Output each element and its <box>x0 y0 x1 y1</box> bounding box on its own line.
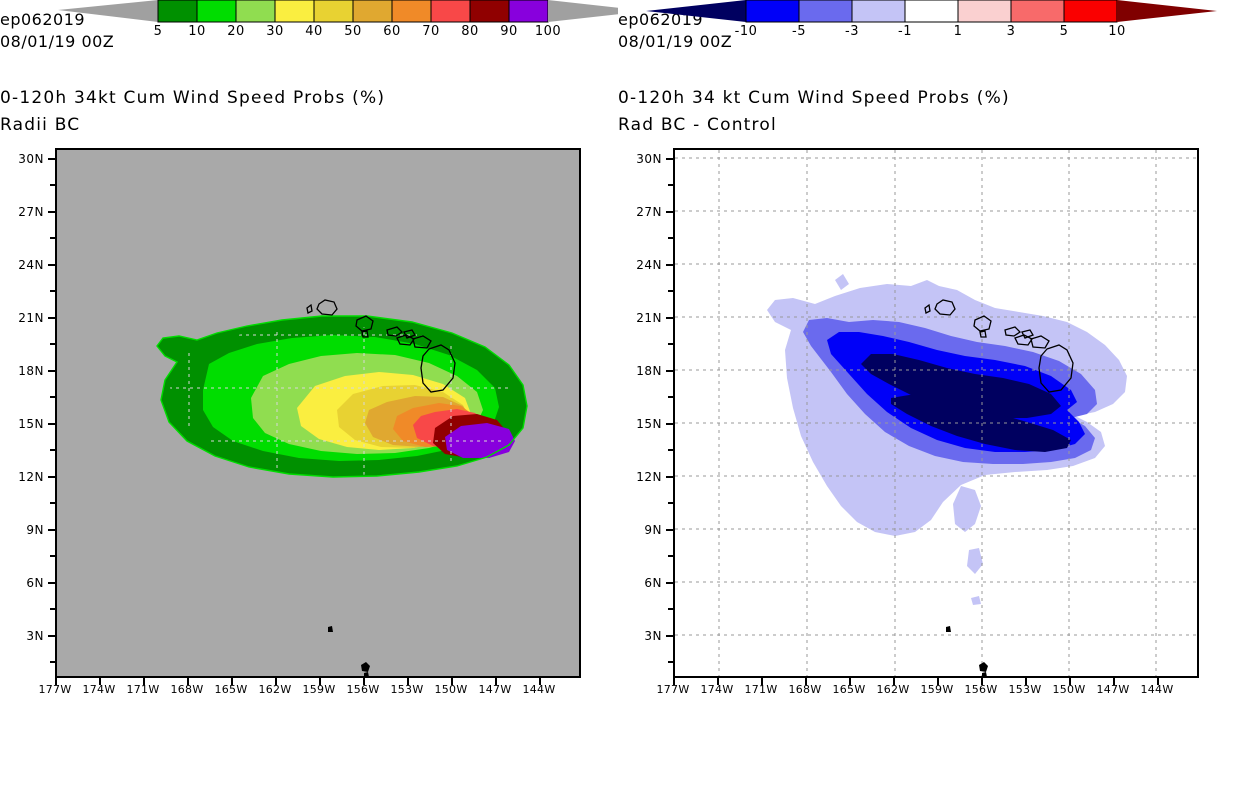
anomaly-spur-tiny <box>971 596 981 605</box>
y-axis-label-3N: 3N <box>4 629 44 643</box>
y-axis-label-21N-right: 21N <box>622 311 662 325</box>
y-axis-label-15N: 15N <box>4 417 44 431</box>
y-axis-label-24N-right: 24N <box>622 258 662 272</box>
contour-map-right <box>675 150 1197 676</box>
colorbar-anomaly-svg <box>618 0 1236 60</box>
y-axis-label-9N: 9N <box>4 523 44 537</box>
colorbar-tick-90: 90 <box>489 24 529 39</box>
y-axis-label-27N-right: 27N <box>622 205 662 219</box>
colorbar-tick-70: 70 <box>411 24 451 39</box>
y-axis-label-18N: 18N <box>4 364 44 378</box>
colorbar-tick-5: 5 <box>138 24 178 39</box>
anomaly-colorbar-under-arrow <box>646 0 746 22</box>
y-axis-label-3N-right: 3N <box>622 629 662 643</box>
anomaly-tick-5: 5 <box>1044 24 1084 39</box>
anomaly-tick-1: 1 <box>938 24 978 39</box>
colorbar-under-arrow <box>58 0 158 22</box>
map-plot-right <box>673 148 1199 678</box>
colorbar-anomaly <box>618 0 1236 60</box>
colorbar-tick-40: 40 <box>294 24 334 39</box>
anomaly-tick-neg5: -5 <box>779 24 819 39</box>
y-axis-label-18N-right: 18N <box>622 364 662 378</box>
panel-left-title: 0-120h 34kt Cum Wind Speed Probs (%) <box>0 88 618 108</box>
anomaly-tick-neg3: -3 <box>832 24 872 39</box>
y-axis-label-30N-right: 30N <box>622 152 662 166</box>
anomaly-spur-far-south <box>967 548 983 574</box>
colorbar-tick-60: 60 <box>372 24 412 39</box>
y-axis-label-21N: 21N <box>4 311 44 325</box>
y-axis-label-30N: 30N <box>4 152 44 166</box>
anomaly-tick-neg10: -10 <box>726 24 766 39</box>
panel-left-subtitle: Radii BC <box>0 115 618 135</box>
colorbar-tick-50: 50 <box>333 24 373 39</box>
anomaly-tick-3: 3 <box>991 24 1031 39</box>
colorbar-tick-20: 20 <box>216 24 256 39</box>
anomaly-tick-10: 10 <box>1097 24 1137 39</box>
y-axis-label-6N-right: 6N <box>622 576 662 590</box>
contour-map-left <box>57 150 579 676</box>
panel-rad-bc-control: ep062019 08/01/19 00Z 0-120h 34 kt Cum W… <box>618 0 1236 800</box>
colorbar-over-arrow <box>548 0 618 22</box>
panel-right-subtitle: Rad BC - Control <box>618 115 1236 135</box>
map-plot-left <box>55 148 581 678</box>
y-axis-label-12N-right: 12N <box>622 470 662 484</box>
y-axis-label-9N-right: 9N <box>622 523 662 537</box>
y-axis-label-12N: 12N <box>4 470 44 484</box>
panel-radii-bc: ep062019 08/01/19 00Z 0-120h 34kt Cum Wi… <box>0 0 618 800</box>
anomaly-spur-south <box>953 486 981 532</box>
small-islands-left <box>328 626 370 676</box>
panel-right-title: 0-120h 34 kt Cum Wind Speed Probs (%) <box>618 88 1236 108</box>
colorbar-tick-100: 100 <box>528 24 568 39</box>
y-axis-label-27N: 27N <box>4 205 44 219</box>
colorbar-tick-10: 10 <box>177 24 217 39</box>
anomaly-tick-neg1: -1 <box>885 24 925 39</box>
colorbar-tick-30: 30 <box>255 24 295 39</box>
forecast-probability-figure: ep062019 08/01/19 00Z 0-120h 34kt Cum Wi… <box>0 0 1236 800</box>
y-axis-label-24N: 24N <box>4 258 44 272</box>
colorbar-tick-80: 80 <box>450 24 490 39</box>
y-axis-label-6N: 6N <box>4 576 44 590</box>
y-axis-label-15N-right: 15N <box>622 417 662 431</box>
anomaly-spur-north <box>835 274 849 290</box>
anomaly-colorbar-over-arrow <box>1117 0 1217 22</box>
